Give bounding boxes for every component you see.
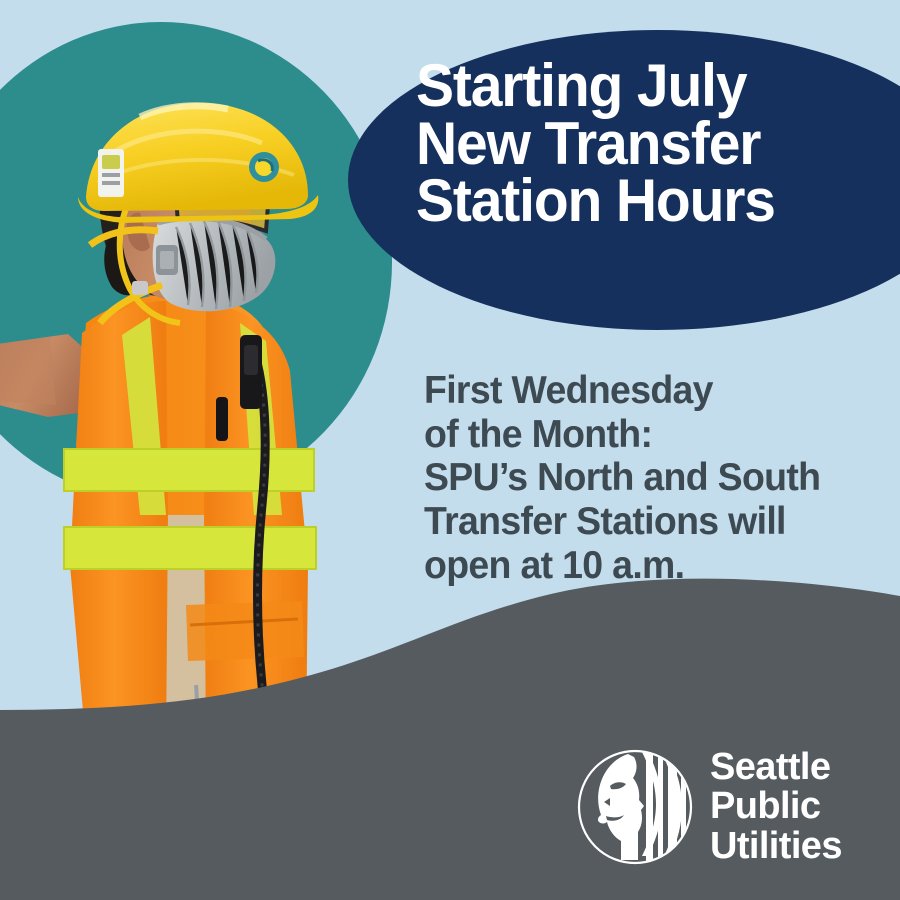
chief-seattle-profile-emblem-icon: [576, 748, 694, 866]
body-line-1: First Wednesday: [424, 369, 875, 413]
headline-line-1: Starting July: [416, 57, 863, 115]
headline-line-3: Station Hours: [416, 172, 863, 230]
logo-line-3: Utilities: [710, 827, 842, 866]
logo-line-2: Public: [710, 787, 842, 826]
seattle-public-utilities-logo: Seattle Public Utilities: [576, 742, 886, 872]
body-copy: First Wednesday of the Month: SPU’s Nort…: [424, 369, 875, 587]
body-line-2: of the Month:: [424, 413, 875, 457]
logo-line-1: Seattle: [710, 748, 842, 787]
body-line-3: SPU’s North and South: [424, 456, 875, 500]
headline: Starting July New Transfer Station Hours: [416, 57, 863, 230]
logo-wordmark: Seattle Public Utilities: [710, 748, 842, 865]
body-line-4: Transfer Stations will: [424, 500, 875, 544]
poster-canvas: PABLO: [0, 0, 900, 900]
headline-line-2: New Transfer: [416, 115, 863, 173]
body-line-5: open at 10 a.m.: [424, 544, 875, 588]
